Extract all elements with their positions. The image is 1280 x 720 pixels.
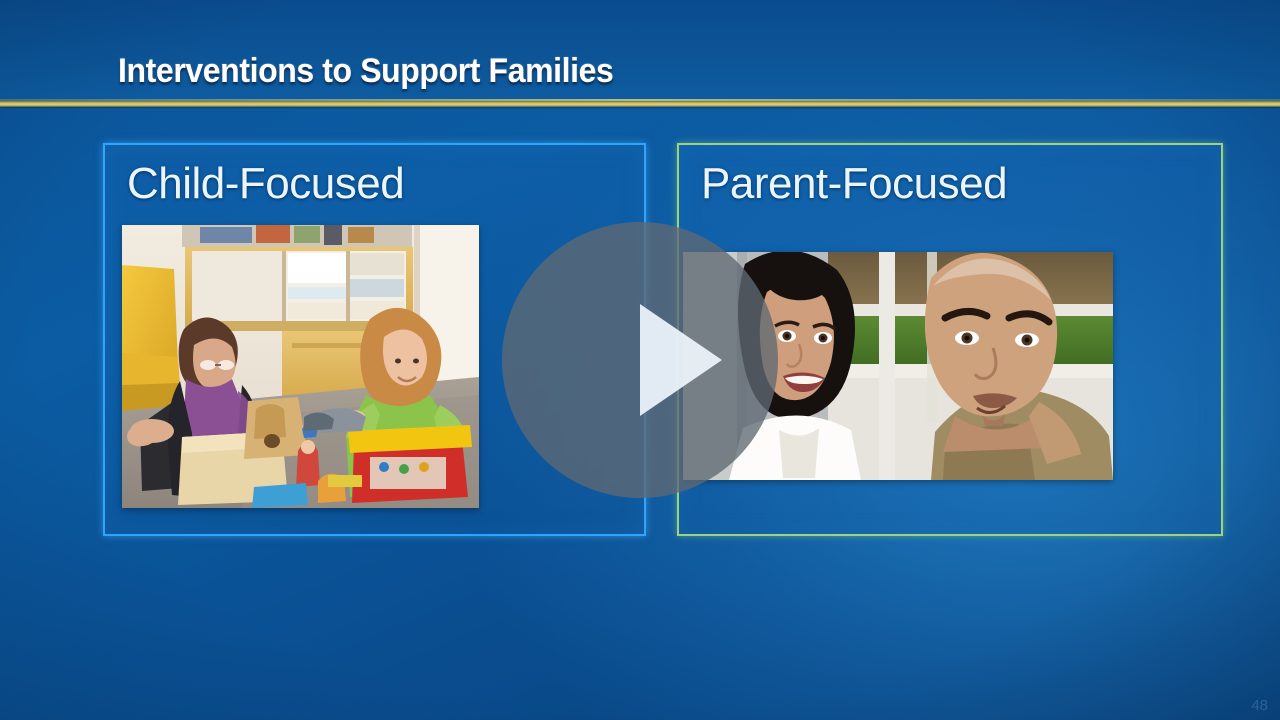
play-triangle-icon <box>640 304 722 416</box>
video-slide: Interventions to Support Families Child-… <box>0 0 1280 720</box>
page-number: 48 <box>1251 697 1268 714</box>
panel-title-parent-focused: Parent-Focused <box>701 159 1007 209</box>
photo-child-focused <box>122 225 479 508</box>
play-button[interactable] <box>502 222 778 498</box>
title-divider-rule <box>0 101 1280 107</box>
photo-child-focused-art <box>122 225 479 508</box>
panel-title-child-focused: Child-Focused <box>127 159 404 209</box>
page-title: Interventions to Support Families <box>118 52 613 91</box>
slide-header: Interventions to Support Families <box>0 0 1280 107</box>
